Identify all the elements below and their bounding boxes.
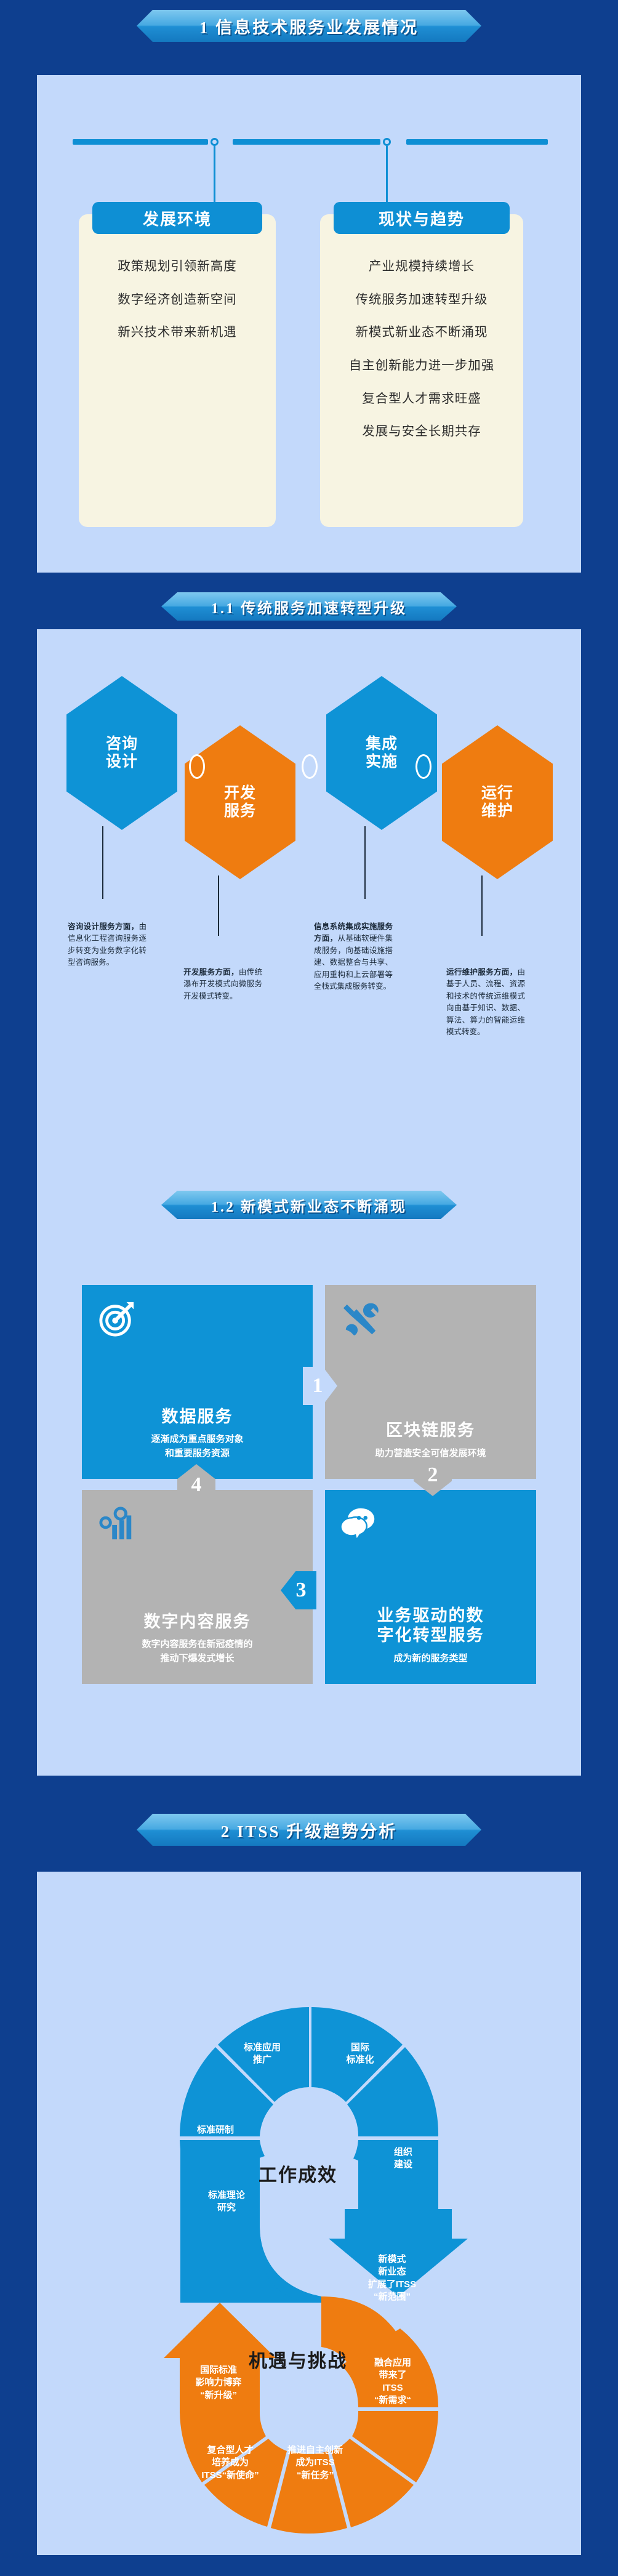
quadrant-number: 3 — [296, 1579, 307, 1602]
arc-center-opportunities-challenges: 机遇与挑战 — [249, 2346, 347, 2373]
banner-section-1-label: 1 信息技术服务业发展情况 — [199, 14, 419, 38]
list-item: 传统服务加速转型升级 — [331, 292, 512, 308]
list-item: 自主创新能力进一步加强 — [331, 358, 512, 374]
description-rest: 由基于人员、流程、资源和技术的传统运维模式向由基于知识、数据、算法、算力的智能运… — [446, 968, 525, 1036]
connector-bar-left — [73, 139, 208, 145]
description-integration-implementation: 信息系统集成实施服务方面，从基础软硬件集成服务，向基础设施搭建、数据整合与共享、… — [314, 921, 393, 992]
quadrant-title: 区块链服务 — [386, 1420, 475, 1440]
card-development-environment-title: 发展环境 — [92, 202, 262, 234]
arc-label-independent-innovation: 推进自主创新 成为ITSS “新任务” — [272, 2444, 358, 2482]
description-operation-maintenance: 运行维护服务方面，由基于人员、流程、资源和技术的传统运维模式向由基于知识、数据、… — [446, 967, 525, 1038]
quadrant-subtitle: 逐渐成为重点服务对象 和重要服务资源 — [151, 1433, 243, 1460]
infographic-page: 1 信息技术服务业发展情况 发展环境 政策规划引领新高度 数字经济创造新空间 新… — [0, 0, 618, 2576]
banner-section-1: 1 信息技术服务业发展情况 — [137, 10, 481, 42]
quadrant-title: 业务驱动的数 字化转型服务 — [377, 1606, 484, 1646]
hexagon-join-ring-3 — [415, 754, 431, 779]
arc-label-international-standardization: 国际 标准化 — [326, 2042, 394, 2067]
list-item: 新模式新业态不断涌现 — [331, 324, 512, 340]
arc-label-international-standard-influence: 国际标准 影响力博弈 “新升级” — [180, 2364, 257, 2402]
list-item: 复合型人才需求旺盛 — [331, 391, 512, 407]
hexagon-label-line1: 集成 — [366, 735, 398, 753]
quadrant-business-driven-transformation-service[interactable]: 业务驱动的数 字化转型服务 成为新的服务类型 — [325, 1490, 536, 1684]
card-status-and-trends-list: 产业规模持续增长 传统服务加速转型升级 新模式新业态不断涌现 自主创新能力进一步… — [320, 259, 523, 457]
hexagon-label-line2: 设计 — [106, 753, 138, 771]
hexagon-label-line1: 开发 — [224, 784, 256, 802]
list-item: 新兴技术带来新机遇 — [90, 324, 265, 340]
connector-bar-far-right — [406, 139, 548, 145]
hexagon-operation-maintenance: 运行 维护 — [442, 725, 553, 879]
quadrant-subtitle: 助力营造安全可信发展环境 — [375, 1447, 486, 1461]
hexagon-integration-implementation: 集成 实施 — [326, 676, 437, 830]
connector-bar-right — [233, 139, 380, 145]
banner-section-1-2-label: 1.2 新模式新业态不断涌现 — [211, 1194, 407, 1216]
card-status-and-trends-title: 现状与趋势 — [334, 202, 510, 234]
card-development-environment-list: 政策规划引领新高度 数字经济创造新空间 新兴技术带来新机遇 — [79, 259, 276, 358]
description-lead: 开发服务方面， — [183, 968, 239, 976]
panel-itss-trend-analysis: 标准应用 推广 国际 标准化 标准研制 组织 建设 标准理论 研究 工作成效 新… — [37, 1872, 581, 2555]
quadrant-number: 1 — [313, 1374, 323, 1398]
hexagon-process-row: 咨询 设计 开发 服务 集成 实施 运行 维护 — [0, 665, 618, 868]
arc-label-organization-building: 组织 建设 — [369, 2146, 437, 2171]
description-lead: 运行维护服务方面， — [446, 968, 517, 976]
quadrant-number: 2 — [428, 1463, 438, 1487]
list-item: 产业规模持续增长 — [331, 259, 512, 275]
banner-section-1-1-label: 1.1 传统服务加速转型升级 — [211, 596, 407, 618]
arc-label-standard-theory-research: 标准理论 研究 — [190, 2189, 263, 2215]
hexagon-label-line2: 维护 — [481, 802, 513, 820]
hexagon-development-service: 开发 服务 — [185, 725, 295, 879]
tools-icon — [341, 1300, 379, 1338]
hexagon-join-ring-1 — [189, 754, 205, 779]
banner-section-1-2: 1.2 新模式新业态不断涌现 — [161, 1191, 457, 1219]
list-item: 数字经济创造新空间 — [90, 292, 265, 308]
hexagon-stem-1 — [102, 826, 103, 899]
arc-label-standard-development: 标准研制 — [179, 2124, 252, 2136]
arc-label-new-model-new-form: 新模式 新业态 扩展了ITSS “新范围” — [351, 2253, 433, 2303]
hexagon-stem-2 — [218, 875, 219, 936]
arc-label-composite-talent: 复合型人才 培养成为 ITSS“新使命” — [185, 2444, 276, 2482]
banner-section-1-1: 1.1 传统服务加速转型升级 — [161, 592, 457, 621]
connector-dot-left — [211, 138, 219, 146]
hexagon-stem-4 — [481, 875, 483, 936]
list-item: 政策规划引领新高度 — [90, 259, 265, 275]
hexagon-join-ring-2 — [302, 754, 318, 779]
chart-gear-icon — [98, 1505, 136, 1543]
hexagon-label-line2: 实施 — [366, 753, 398, 771]
hexagon-label-line2: 服务 — [224, 802, 256, 820]
quadrant-title: 数字内容服务 — [144, 1612, 251, 1632]
list-item: 发展与安全长期共存 — [331, 424, 512, 440]
hexagon-label-line1: 咨询 — [106, 735, 138, 753]
arc-label-integrated-application: 融合应用 带来了 ITSS “新需求“ — [352, 2357, 433, 2407]
card-status-and-trends: 现状与趋势 产业规模持续增长 传统服务加速转型升级 新模式新业态不断涌现 自主创… — [320, 214, 523, 527]
description-consulting-design: 咨询设计服务方面，由信息化工程咨询服务逐步转变为业务数字化转型咨询服务。 — [68, 921, 146, 969]
quadrant-data-service[interactable]: 数据服务 逐渐成为重点服务对象 和重要服务资源 — [82, 1285, 313, 1479]
description-lead: 咨询设计服务方面， — [68, 922, 138, 931]
target-icon — [98, 1300, 136, 1338]
arc-center-work-results: 工作成效 — [259, 2160, 337, 2187]
quadrant-subtitle: 成为新的服务类型 — [393, 1652, 467, 1666]
arc-label-standard-application: 标准应用 推广 — [225, 2042, 299, 2067]
chat-icon — [341, 1505, 379, 1543]
quadrant-blockchain-service[interactable]: 区块链服务 助力营造安全可信发展环境 — [325, 1285, 536, 1479]
quadrant-digital-content-service[interactable]: 数字内容服务 数字内容服务在新冠疫情的 推动下爆发式增长 — [82, 1490, 313, 1684]
hexagon-stem-3 — [364, 826, 366, 899]
card-development-environment: 发展环境 政策规划引领新高度 数字经济创造新空间 新兴技术带来新机遇 — [79, 214, 276, 527]
quadrant-title: 数据服务 — [162, 1407, 233, 1427]
description-development-service: 开发服务方面，由传统瀑布开发模式向微服务开发模式转变。 — [183, 967, 262, 1002]
connector-dot-right — [383, 138, 391, 146]
quadrant-number: 4 — [191, 1473, 202, 1497]
banner-section-2-label: 2 ITSS 升级趋势分析 — [221, 1818, 398, 1842]
hexagon-label-line1: 运行 — [481, 784, 513, 802]
quadrant-subtitle: 数字内容服务在新冠疫情的 推动下爆发式增长 — [142, 1638, 252, 1665]
banner-section-2: 2 ITSS 升级趋势分析 — [137, 1814, 481, 1846]
hexagon-consulting-design: 咨询 设计 — [66, 676, 177, 830]
